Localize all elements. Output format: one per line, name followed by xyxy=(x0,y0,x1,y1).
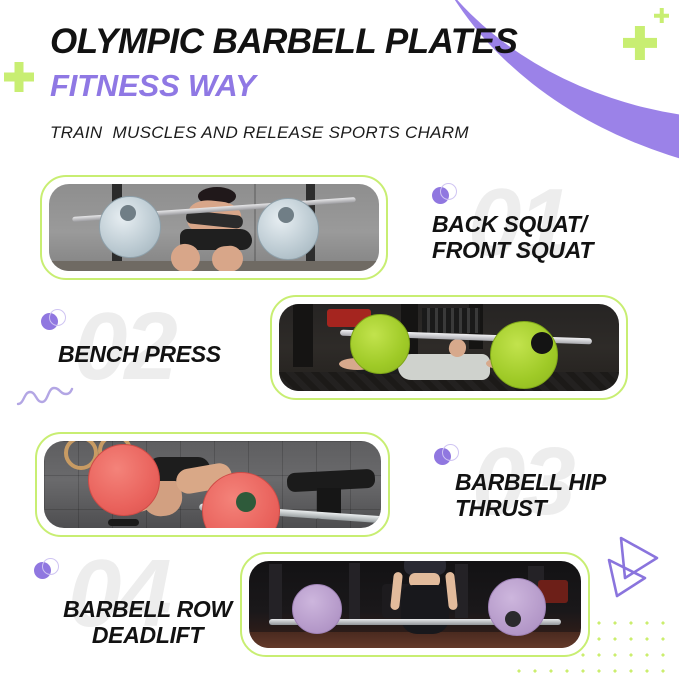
step-heading-01-line2: FRONT SQUAT xyxy=(432,237,672,263)
dot-ring-icon xyxy=(442,444,459,461)
header-block: OLYMPIC BARBELL PLATES FITNESS WAY TRAIN… xyxy=(50,24,517,143)
page-title: OLYMPIC BARBELL PLATES xyxy=(50,24,517,61)
photo-bench-press xyxy=(279,304,619,391)
photo-hip-thrust xyxy=(44,441,381,528)
step-heading-04-line2: DEADLIFT xyxy=(30,622,265,648)
step-heading-04-line1: BARBELL ROW xyxy=(30,596,265,622)
scene-back-squat xyxy=(49,184,379,271)
scene-bench-press xyxy=(279,304,619,391)
poster-canvas: OLYMPIC BARBELL PLATES FITNESS WAY TRAIN… xyxy=(0,0,679,689)
label-block-04: 04 BARBELL ROW DEADLIFT xyxy=(30,552,265,648)
step-heading-01-line1: BACK SQUAT/ xyxy=(432,211,672,237)
photo-back-squat xyxy=(49,184,379,271)
dot-pair-02 xyxy=(41,309,71,331)
dot-ring-icon xyxy=(440,183,457,200)
plus-icon-left xyxy=(4,62,34,92)
photo-deadlift xyxy=(249,561,581,648)
dot-ring-icon xyxy=(42,558,59,575)
plus-icon-large xyxy=(623,26,657,60)
step-heading-03: BARBELL HIP THRUST xyxy=(434,469,674,521)
step-heading-03-line2: THRUST xyxy=(455,495,674,521)
page-tagline: TRAIN MUSCLES AND RELEASE SPORTS CHARM xyxy=(50,123,517,143)
plus-icon-small xyxy=(654,8,669,23)
label-block-03: 03 BARBELL HIP THRUST xyxy=(434,444,674,521)
photo-frame-04 xyxy=(240,552,590,657)
dot-pair-01 xyxy=(432,183,462,205)
step-heading-02: BENCH PRESS xyxy=(44,341,284,367)
label-block-02: 02 BENCH PRESS xyxy=(44,305,284,367)
scene-hip-thrust xyxy=(44,441,381,528)
photo-frame-01 xyxy=(40,175,388,280)
squiggle-icon xyxy=(16,378,74,412)
label-block-01: 01 BACK SQUAT/ FRONT SQUAT xyxy=(432,183,672,263)
dot-pair-04 xyxy=(34,558,64,580)
scene-deadlift xyxy=(249,561,581,648)
step-heading-03-line1: BARBELL HIP xyxy=(455,469,674,495)
photo-frame-02 xyxy=(270,295,628,400)
step-heading-04: BARBELL ROW DEADLIFT xyxy=(30,596,265,648)
dot-pair-03 xyxy=(434,444,464,466)
step-heading-01: BACK SQUAT/ FRONT SQUAT xyxy=(432,211,672,263)
photo-frame-03 xyxy=(35,432,390,537)
dot-ring-icon xyxy=(49,309,66,326)
double-triangle-icon xyxy=(599,534,665,600)
page-subtitle: FITNESS WAY xyxy=(50,70,517,103)
